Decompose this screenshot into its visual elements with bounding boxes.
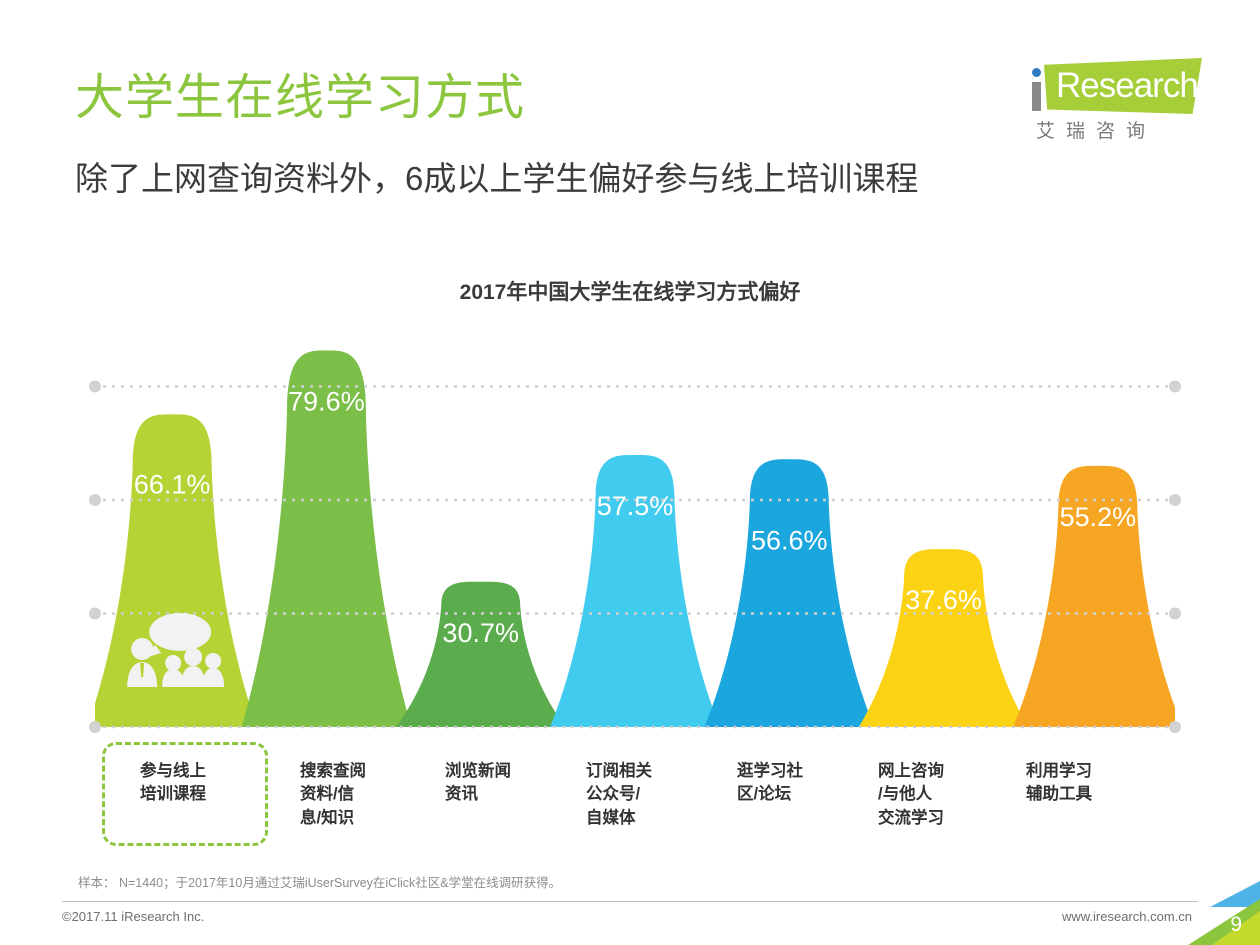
page-title: 大学生在线学习方式 (75, 58, 525, 129)
x-axis-label-line: 网上咨询 (878, 760, 944, 783)
logo-i-stem-icon (1032, 82, 1041, 111)
footer-divider (62, 901, 1198, 902)
gridline-cap-2-right (1169, 494, 1181, 506)
x-axis-label-line: 交流学习 (878, 807, 944, 830)
x-axis-label-line: 搜索查阅 (300, 760, 366, 783)
bar-value-label-4: 57.5% (597, 491, 674, 521)
footer-copyright: ©2017.11 iResearch Inc. (62, 909, 204, 924)
x-axis-label-4[interactable]: 订阅相关公众号/自媒体 (586, 760, 652, 830)
gridline-cap-2-left (89, 494, 101, 506)
x-axis-label-line: 区/论坛 (737, 783, 803, 806)
x-axis-label-line: 培训课程 (140, 783, 206, 806)
x-axis-label-line: 逛学习社 (737, 760, 803, 783)
gridline-cap-1-left (89, 607, 101, 619)
gridline-cap-3-left (89, 380, 101, 392)
x-axis-label-line: 资料/信 (300, 783, 366, 806)
page-number: 9 (1230, 913, 1242, 937)
page-corner-graphic (1152, 881, 1260, 945)
x-axis-label-line: 资讯 (445, 783, 511, 806)
bar-value-label-2: 79.6% (288, 386, 365, 416)
bar-value-label-7: 55.2% (1060, 502, 1137, 532)
x-axis-label-6[interactable]: 网上咨询/与他人交流学习 (878, 760, 944, 830)
x-axis-label-1[interactable]: 参与线上培训课程 (140, 760, 206, 807)
bar-6[interactable] (859, 549, 1029, 727)
gridline-cap-0-left (89, 721, 101, 733)
bar-value-label-6: 37.6% (905, 585, 982, 615)
x-axis-label-line: 参与线上 (140, 760, 206, 783)
x-axis-label-line: 公众号/ (586, 783, 652, 806)
x-axis-label-line: 浏览新闻 (445, 760, 511, 783)
bar-value-label-5: 56.6% (751, 525, 828, 555)
bars-group (87, 350, 1182, 727)
x-axis-label-line: 辅助工具 (1026, 783, 1092, 806)
x-axis-label-2[interactable]: 搜索查阅资料/信息/知识 (300, 760, 366, 830)
chart-footnote: 样本： N=1440；于2017年10月通过艾瑞iUserSurvey在iCli… (78, 872, 561, 891)
logo-i-dot-icon (1032, 68, 1041, 77)
x-axis-label-line: 利用学习 (1026, 760, 1092, 783)
chart-svg: 66.1%79.6%30.7%57.5%56.6%37.6%55.2% (0, 300, 1260, 740)
x-axis-label-line: 订阅相关 (586, 760, 652, 783)
x-axis-labels: 参与线上培训课程搜索查阅资料/信息/知识浏览新闻资讯订阅相关公众号/自媒体逛学习… (0, 748, 1260, 853)
bar-value-label-1: 66.1% (134, 469, 211, 499)
chart-plot-area: 66.1%79.6%30.7%57.5%56.6%37.6%55.2% (0, 300, 1260, 740)
iresearch-logo: Research 艾瑞咨询 (1022, 58, 1202, 146)
logo-chinese-name: 艾瑞咨询 (1036, 116, 1156, 143)
gridline-cap-3-right (1169, 380, 1181, 392)
bar-value-label-3: 30.7% (442, 618, 519, 648)
x-axis-label-line: 息/知识 (300, 807, 366, 830)
gridline-cap-0-right (1169, 721, 1181, 733)
x-axis-label-7[interactable]: 利用学习辅助工具 (1026, 760, 1092, 807)
x-axis-label-line: 自媒体 (586, 807, 652, 830)
x-axis-label-3[interactable]: 浏览新闻资讯 (445, 760, 511, 807)
x-axis-label-line: /与他人 (878, 783, 944, 806)
logo-wordmark: Research (1056, 66, 1198, 106)
gridline-cap-1-right (1169, 607, 1181, 619)
bar-3[interactable] (396, 582, 566, 727)
x-axis-label-5[interactable]: 逛学习社区/论坛 (737, 760, 803, 807)
page-subtitle: 除了上网查询资料外，6成以上学生偏好参与线上培训课程 (75, 152, 918, 200)
